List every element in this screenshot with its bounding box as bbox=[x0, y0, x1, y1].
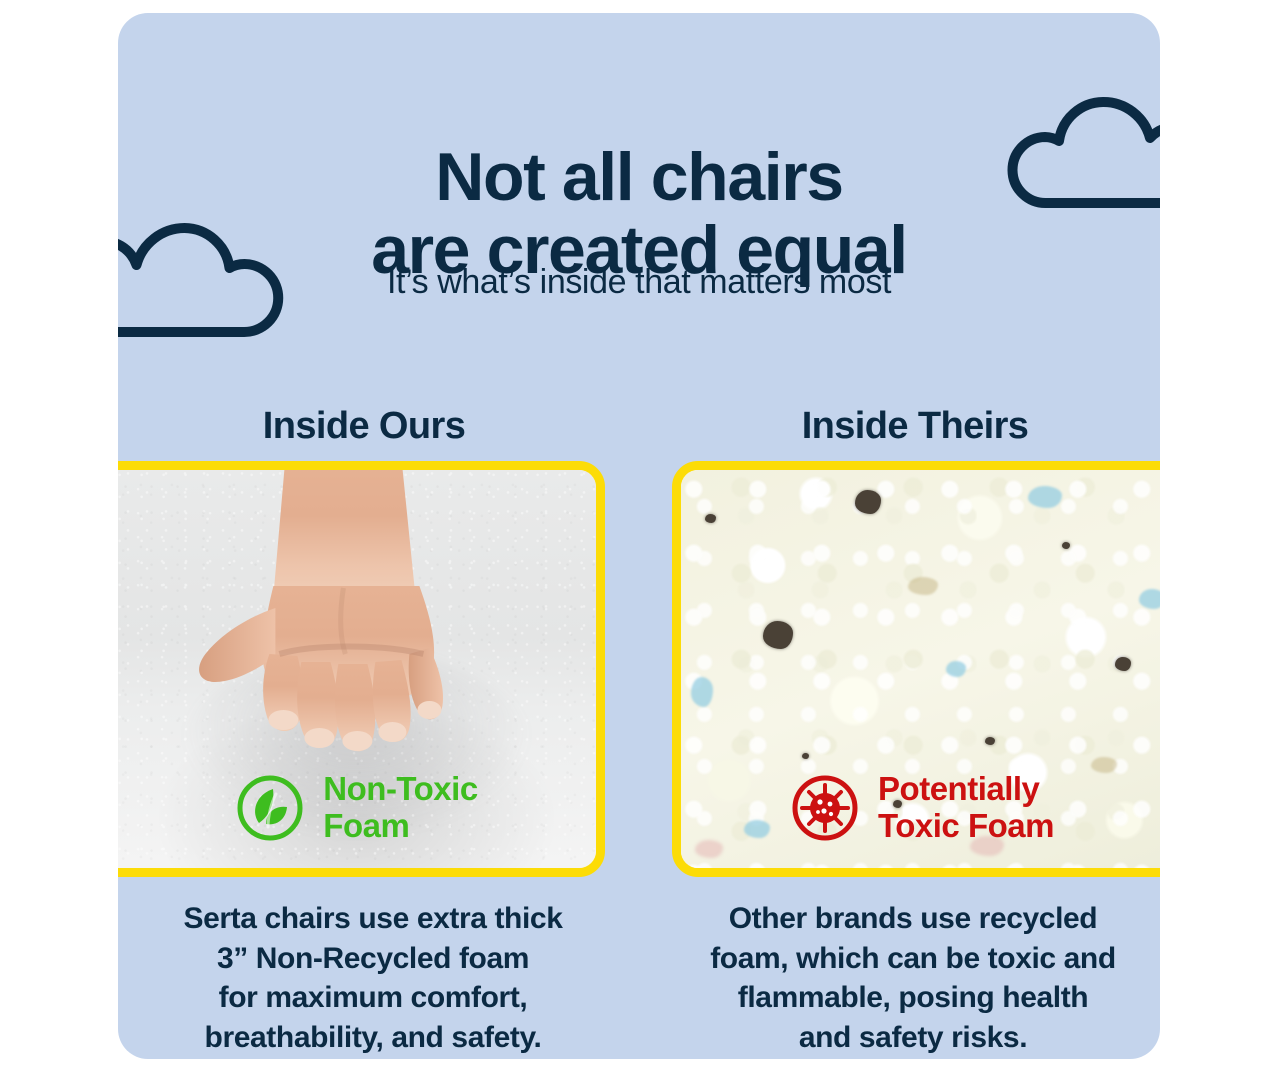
headline-line-1: Not all chairs bbox=[118, 141, 1160, 214]
column-title-theirs: Inside Theirs bbox=[670, 405, 1160, 448]
leaf-icon bbox=[235, 773, 305, 843]
panel-inside-ours: Non-Toxic Foam bbox=[118, 461, 605, 877]
germ-icon bbox=[790, 773, 860, 843]
badge-potentially-toxic-foam: Potentially Toxic Foam bbox=[681, 771, 1160, 844]
caption-ours: Serta chairs use extra thick 3” Non-Recy… bbox=[138, 899, 608, 1057]
subheadline: It’s what’s inside that matters most bbox=[118, 263, 1160, 302]
badge-label-toxic: Potentially Toxic Foam bbox=[878, 771, 1054, 844]
badge-non-toxic-foam: Non-Toxic Foam bbox=[118, 771, 596, 844]
promo-card: Not all chairs are created equal It’s wh… bbox=[118, 13, 1160, 1059]
caption-theirs: Other brands use recycled foam, which ca… bbox=[678, 899, 1148, 1057]
infographic-canvas: Not all chairs are created equal It’s wh… bbox=[0, 0, 1280, 1073]
panel-inside-theirs: Potentially Toxic Foam bbox=[672, 461, 1160, 877]
hand-illustration bbox=[133, 468, 563, 768]
column-title-ours: Inside Ours bbox=[118, 405, 610, 448]
badge-label-non-toxic: Non-Toxic Foam bbox=[323, 771, 477, 844]
